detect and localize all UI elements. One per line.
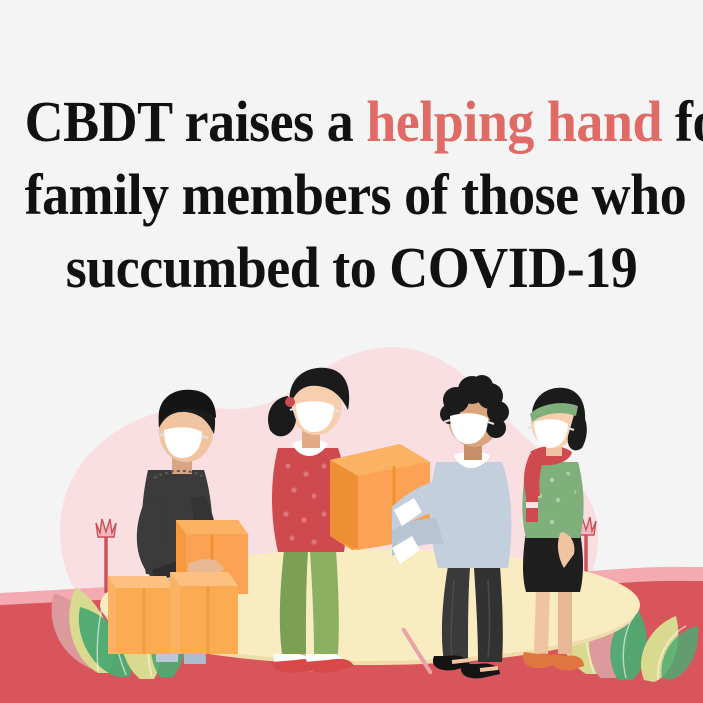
headline-line-3: succumbed to COVID-19 [25, 238, 679, 297]
headline-accent-phrase: helping hand [366, 89, 662, 154]
figure-woman-in-green-sweater [496, 382, 626, 682]
charity-donation-illustration [0, 330, 703, 703]
headline-line-1: CBDT raises a helping hand for [25, 92, 679, 151]
headline-line-1-lead: CBDT raises a [25, 89, 367, 154]
page-title: CBDT raises a helping hand for family me… [0, 92, 703, 297]
poster-canvas: CBDT raises a helping hand for family me… [0, 0, 703, 703]
stacked-relief-boxes [104, 558, 244, 668]
headline-line-2: family members of those who [25, 165, 679, 224]
relief-box-2 [170, 572, 238, 654]
headline-line-1-tail: for [662, 89, 703, 154]
relief-box-1 [108, 576, 174, 654]
